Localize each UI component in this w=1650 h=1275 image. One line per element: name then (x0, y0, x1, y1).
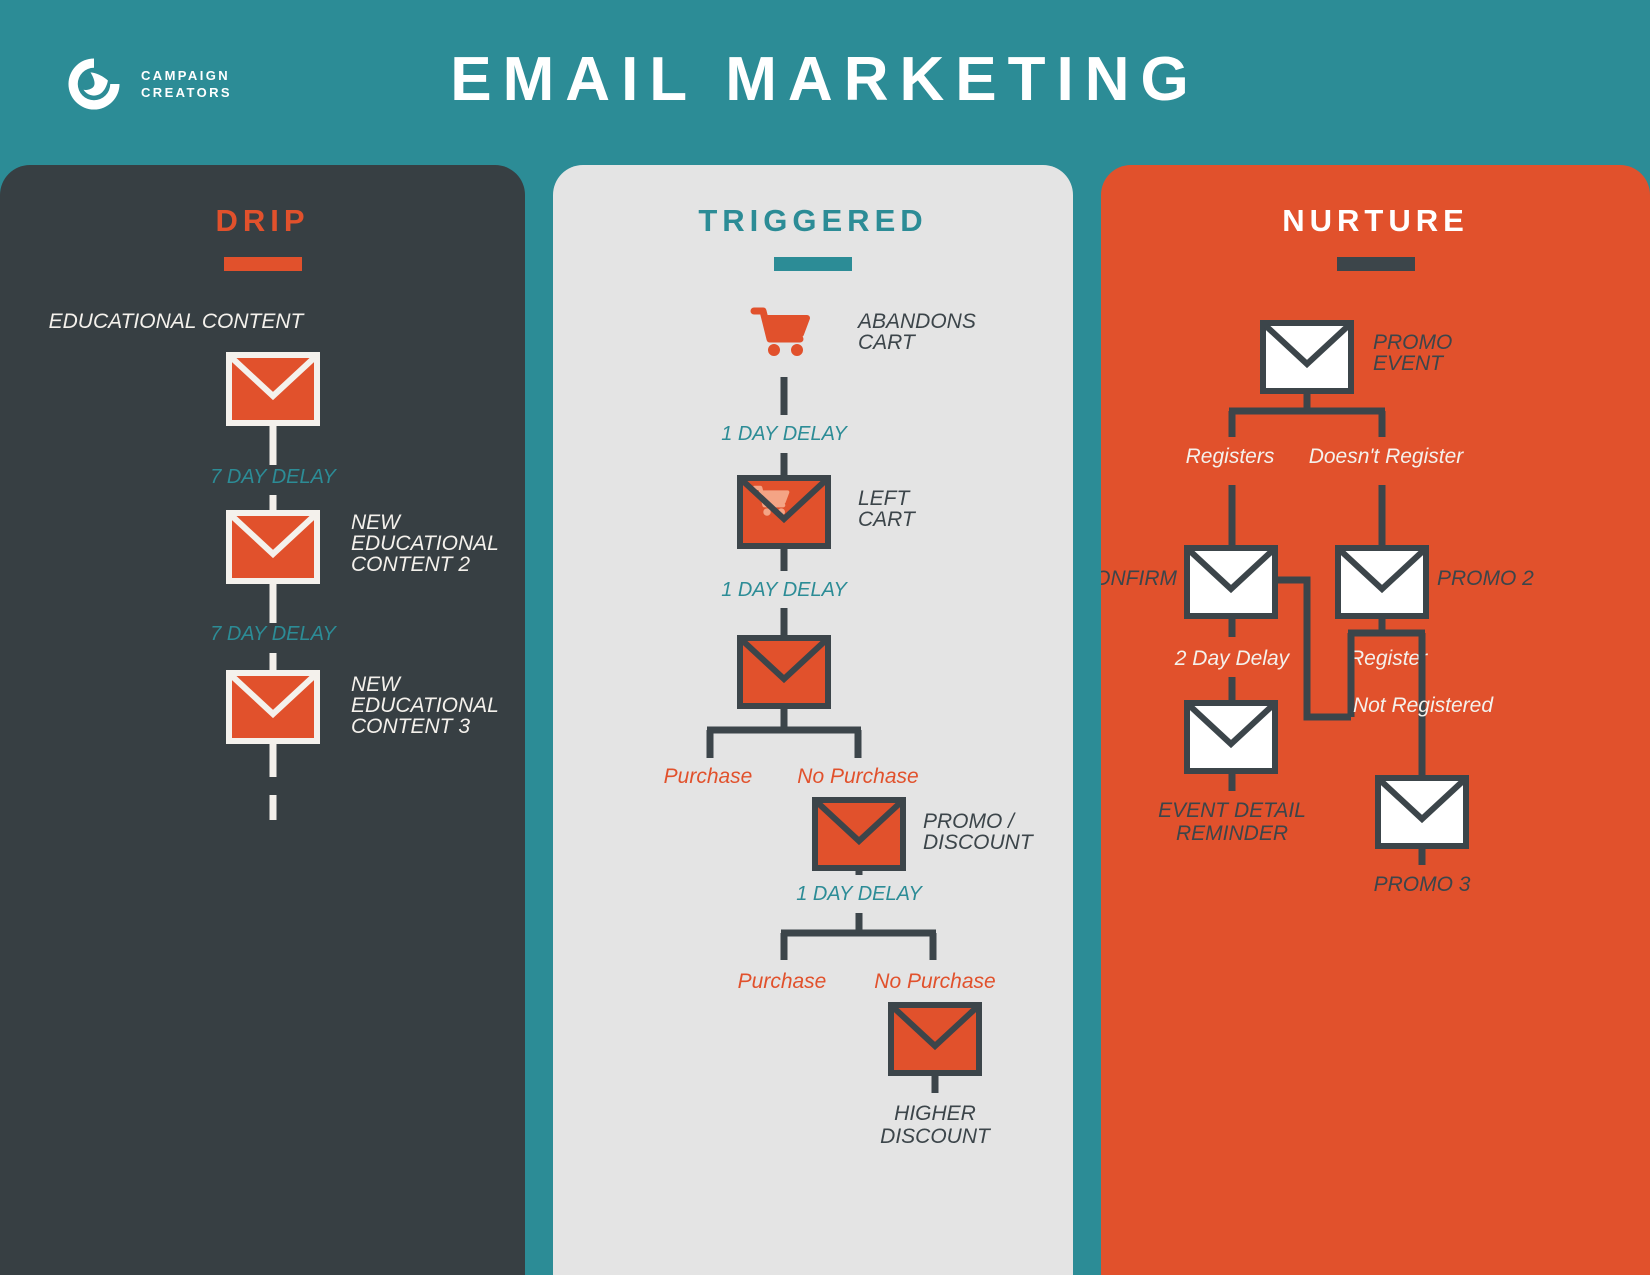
drip-node-label-2-line-2: EDUCATIONAL (351, 532, 499, 555)
column-drip: DRIP EDUCATIONAL CONTENT 7 DAY DELAY 7 D… (0, 165, 525, 1275)
nurt-label-confirm: CONFIRM (1101, 567, 1177, 590)
nurt-envelope-promo-event[interactable] (1263, 323, 1351, 391)
drip-node-label-3-line-2: EDUCATIONAL (351, 694, 499, 717)
trig-label-abandons-cart-line-1: ABANDONS (856, 310, 976, 333)
nurt-label-promo-2: PROMO 2 (1437, 567, 1534, 590)
column-triggered: TRIGGERED ABANDONS CART 1 DAY DELAY (553, 165, 1073, 1275)
drip-node-label-2-line-3: CONTENT 2 (351, 553, 470, 576)
nurt-delay-label-2-day: 2 Day Delay (1174, 647, 1291, 670)
nurt-label-promo-event-line-1: PROMO (1373, 331, 1452, 354)
nurt-envelope-event-detail-reminder[interactable] (1187, 703, 1275, 771)
trig-label-left-cart-line-2: CART (858, 508, 917, 531)
drip-node-label-3-line-3: CONTENT 3 (351, 715, 470, 738)
trig-branch2-label-right: No Purchase (874, 970, 995, 993)
drip-envelope-3[interactable] (229, 673, 317, 741)
drip-node-label-3-line-1: NEW (351, 673, 402, 696)
trig-delay-label-1: 1 DAY DELAY (721, 423, 848, 445)
trig-label-higher-discount-line-1: HIGHER (894, 1102, 976, 1125)
trig-branch2-label-left: Purchase (738, 970, 827, 993)
trig-delay-label-3: 1 DAY DELAY (796, 883, 923, 905)
nurt-label-event-detail-reminder-line-2: REMINDER (1176, 822, 1288, 845)
column-nurture: NURTURE PROMO EVENT Registers Doesn't Re… (1101, 165, 1650, 1275)
page-header: CAMPAIGN CREATORS EMAIL MARKETING (0, 0, 1650, 165)
triggered-flow-diagram: ABANDONS CART 1 DAY DELAY LEFT CART 1 DA… (553, 165, 1073, 1275)
drip-node-label-2-line-1: NEW (351, 511, 402, 534)
nurt-envelope-promo-2[interactable] (1338, 548, 1426, 616)
drip-node-label-1: EDUCATIONAL CONTENT (49, 310, 306, 333)
drip-flow-diagram: EDUCATIONAL CONTENT 7 DAY DELAY 7 DAY DE… (0, 165, 525, 1275)
nurt-envelope-confirm[interactable] (1187, 548, 1275, 616)
trig-label-left-cart-line-1: LEFT (858, 487, 912, 510)
nurt-branch-label-registers: Registers (1186, 445, 1275, 468)
drip-envelope-2[interactable] (229, 513, 317, 581)
nurture-flow-diagram: PROMO EVENT Registers Doesn't Register C… (1101, 165, 1650, 1275)
trig-label-promo-discount-line-1: PROMO / (923, 810, 1016, 833)
trig-envelope-3[interactable] (740, 638, 828, 706)
nurt-label-not-registered: Not Registered (1353, 694, 1494, 717)
nurt-branch-label-doesnt-register: Doesn't Register (1309, 445, 1465, 468)
drip-envelope-1[interactable] (229, 355, 317, 423)
drip-delay-label-2: 7 DAY DELAY (210, 623, 337, 645)
trig-envelope-higher-discount[interactable] (891, 1005, 979, 1073)
nurt-label-register: Register (1349, 647, 1428, 670)
nurt-label-event-detail-reminder-line-1: EVENT DETAIL (1158, 799, 1306, 822)
nurt-envelope-promo-3[interactable] (1378, 778, 1466, 846)
drip-delay-label-1: 7 DAY DELAY (210, 466, 337, 488)
trig-label-higher-discount-line-2: DISCOUNT (880, 1125, 992, 1148)
trig-envelope-promo-discount[interactable] (815, 800, 903, 868)
shopping-cart-icon (754, 311, 807, 356)
trig-envelope-left-cart[interactable] (740, 478, 828, 546)
trig-delay-label-2: 1 DAY DELAY (721, 579, 848, 601)
trig-label-abandons-cart-line-2: CART (858, 331, 917, 354)
trig-branch1-label-right: No Purchase (797, 765, 918, 788)
page-title: EMAIL MARKETING (0, 44, 1650, 115)
trig-label-promo-discount-line-2: DISCOUNT (923, 831, 1035, 854)
nurt-label-promo-event-line-2: EVENT (1373, 352, 1445, 375)
trig-branch1-label-left: Purchase (664, 765, 753, 788)
nurt-label-promo-3: PROMO 3 (1374, 873, 1471, 896)
